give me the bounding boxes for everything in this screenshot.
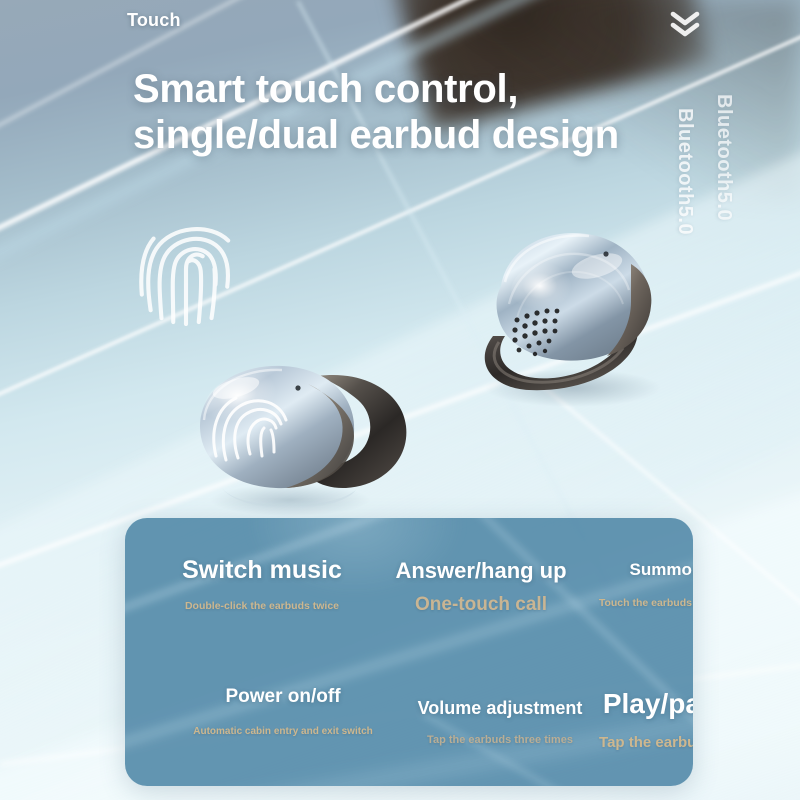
feature-item-answer-hang-up: Answer/hang up One-touch call: [371, 558, 591, 616]
feature-title: Summon siri: [583, 560, 693, 580]
kicker-label: Touch: [127, 10, 181, 31]
feature-subtitle: Touch the earbuds for 3 seconds: [583, 596, 693, 610]
feature-item-power-on-off: Power on/off Automatic cabin entry and e…: [153, 686, 413, 737]
product-marketing-image: Touch Smart touch control, single/dual e…: [0, 0, 800, 800]
feature-item-switch-music: Switch music Double-click the earbuds tw…: [147, 556, 377, 613]
feature-title: Answer/hang up: [371, 558, 591, 584]
chevron-double-down-icon: [668, 8, 702, 42]
earbud-product-top: [455, 212, 685, 412]
feature-subtitle: Tap the earbuds once: [565, 734, 693, 751]
feature-subtitle: Automatic cabin entry and exit switch: [153, 726, 413, 737]
feature-title: Switch music: [147, 556, 377, 585]
feature-panel: Switch music Double-click the earbuds tw…: [125, 518, 693, 786]
feature-item-summon-siri: Summon siri Touch the earbuds for 3 seco…: [583, 560, 693, 610]
feature-title: Power on/off: [153, 686, 413, 708]
page-title: Smart touch control, single/dual earbud …: [133, 66, 693, 159]
feature-subtitle: Double-click the earbuds twice: [147, 599, 377, 613]
earbud-product-bottom: [178, 348, 428, 518]
feature-subtitle: One-touch call: [371, 594, 591, 616]
feature-item-play-pause: Play/pause Tap the earbuds once: [565, 688, 693, 751]
fingerprint-icon: [132, 214, 240, 326]
feature-title: Play/pause: [565, 688, 693, 720]
bluetooth-watermark-2: Bluetooth5.0: [712, 94, 735, 221]
